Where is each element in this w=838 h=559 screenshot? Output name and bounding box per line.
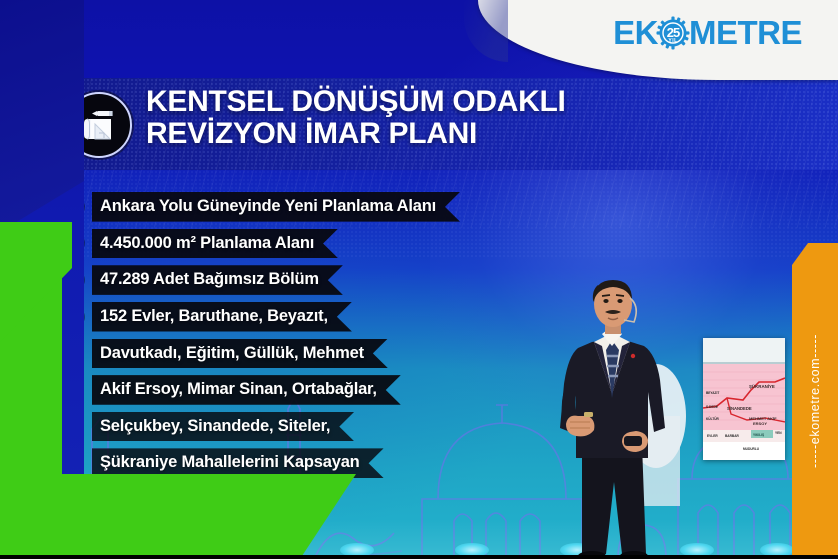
- bullet-ribbon-label: Selçukbey, Sinandede, Siteler,: [92, 412, 354, 442]
- map-label-1: ŞÜKRANİYE: [749, 384, 775, 389]
- slide-title-line-1: KENTSEL DÖNÜŞÜM ODAKLI: [146, 86, 566, 118]
- svg-text:S.DEDE: S.DEDE: [706, 405, 718, 409]
- list-item: Ankara Yolu Güneyinde Yeni Planlama Alan…: [68, 192, 628, 222]
- bullet-ribbon-label: Ankara Yolu Güneyinde Yeni Planlama Alan…: [92, 192, 460, 222]
- svg-text:KÜLTÜR: KÜLTÜR: [706, 416, 720, 421]
- logo-anniversary-number: 25: [667, 26, 679, 39]
- bottom-letterbox: [0, 555, 838, 559]
- svg-text:MUDURLU: MUDURLU: [743, 447, 760, 451]
- logo-text-part2: METRE: [689, 14, 802, 52]
- svg-text:BEYAZIT: BEYAZIT: [706, 391, 719, 395]
- bullet-ribbon-label: Davutkadı, Eğitim, Güllük, Mehmet: [92, 339, 388, 369]
- bullet-ribbon-label: Şükraniye Mahallelerini Kapsayan: [92, 448, 384, 478]
- bullet-list: Ankara Yolu Güneyinde Yeni Planlama Alan…: [68, 192, 628, 522]
- list-item-continuation: Akif Ersoy, Mimar Sinan, Ortabağlar,: [68, 375, 628, 405]
- svg-text:YIKILIŞ: YIKILIŞ: [753, 433, 764, 437]
- bullet-ribbon-label: 47.289 Adet Bağımsız Bölüm: [92, 265, 343, 295]
- logo-anniversary-label: YIL: [656, 38, 690, 44]
- bullet-ribbon-label: 4.450.000 m² Planlama Alanı: [92, 229, 338, 259]
- list-item: 152 Evler, Baruthane, Beyazıt,: [68, 302, 628, 332]
- district-map-card: ŞÜKRANİYE SİNANDEDE MEHMET AKİF ERSOY BE…: [703, 338, 785, 460]
- list-item-continuation: Şükraniye Mahallelerini Kapsayan: [68, 448, 628, 478]
- list-item-continuation: Selçukbey, Sinandede, Siteler,: [68, 412, 628, 442]
- bullet-ribbon-label: 152 Evler, Baruthane, Beyazıt,: [92, 302, 352, 332]
- slide-title-group: KENTSEL DÖNÜŞÜM ODAKLI REVİZYON İMAR PLA…: [146, 86, 566, 151]
- bullet-ribbon-label: Akif Ersoy, Mimar Sinan, Ortabağlar,: [92, 375, 401, 405]
- website-vertical-label: -----ekometre.com-----: [808, 334, 822, 468]
- slide-header: KENTSEL DÖNÜŞÜM ODAKLI REVİZYON İMAR PLA…: [66, 88, 706, 168]
- map-label-2: SİNANDEDE: [727, 406, 752, 411]
- slide-title-line-2: REVİZYON İMAR PLANI: [146, 118, 566, 150]
- website-vertical-label-wrap: -----ekometre.com-----: [792, 243, 838, 559]
- svg-text:YEN: YEN: [775, 431, 782, 435]
- list-item: 4.450.000 m² Planlama Alanı: [68, 229, 628, 259]
- map-label-4: ERSOY: [753, 421, 767, 426]
- svg-text:EVLER: EVLER: [707, 434, 718, 438]
- slide-title-rest: ODAKLI: [452, 85, 565, 118]
- svg-text:BARBAR: BARBAR: [725, 434, 740, 438]
- list-item: 47.289 Adet Bağımsız Bölüm: [68, 265, 628, 295]
- ekometre-logo[interactable]: EK: [613, 14, 802, 52]
- logo-text-part1: EK: [613, 14, 658, 52]
- gear-badge-icon: 25 YIL: [656, 16, 690, 50]
- list-item-continuation: Davutkadı, Eğitim, Güllük, Mehmet: [68, 339, 628, 369]
- slide-title-strong: KENTSEL DÖNÜŞÜM: [146, 85, 452, 118]
- presentation-screenshot: ŞÜKRANİYE SİNANDEDE MEHMET AKİF ERSOY BE…: [0, 0, 838, 559]
